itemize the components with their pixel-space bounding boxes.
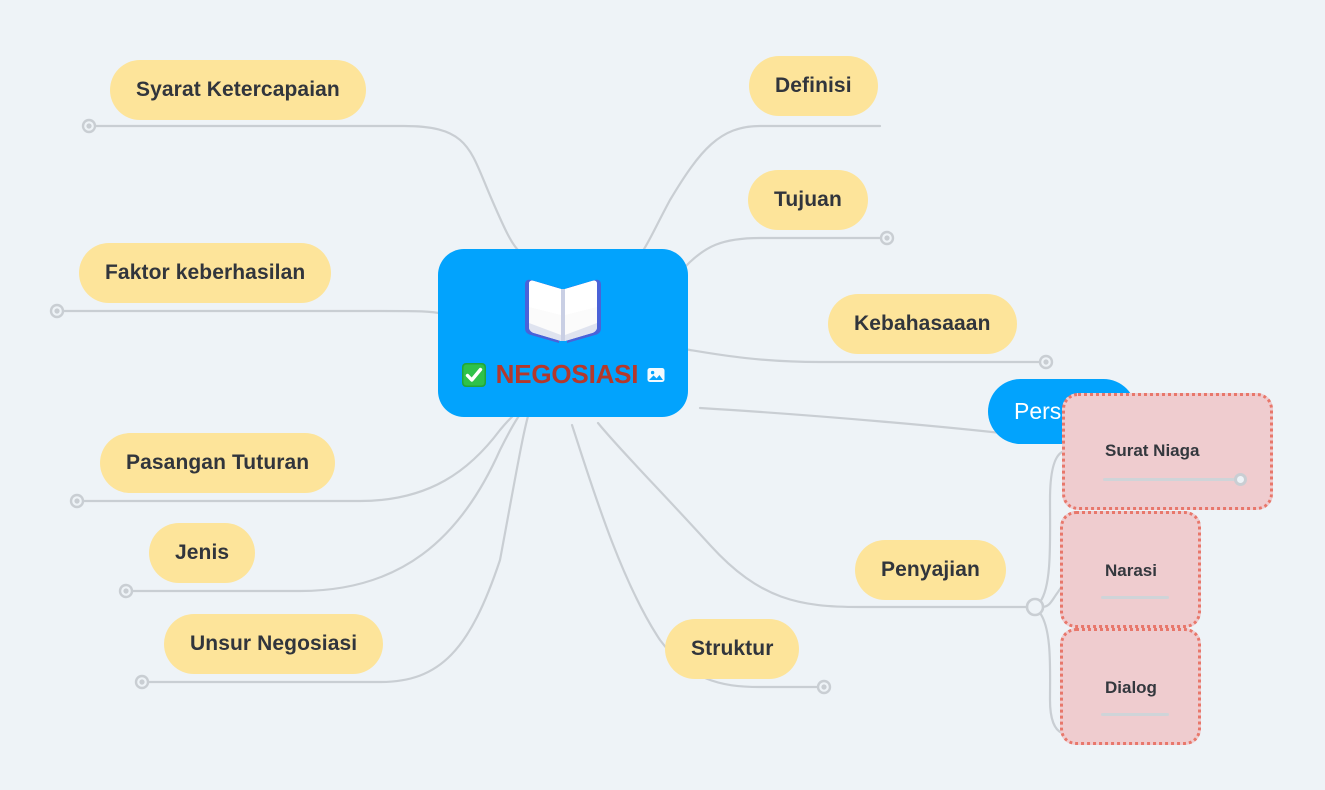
- node-definisi[interactable]: Definisi: [749, 56, 878, 116]
- edge-hub-dialog: [1040, 613, 1062, 733]
- node-unsur-negosiasi[interactable]: Unsur Negosiasi: [164, 614, 383, 674]
- node-struktur[interactable]: Struktur: [665, 619, 799, 679]
- node-expand-dot[interactable]: [1234, 473, 1247, 486]
- node-label: Definisi: [775, 74, 852, 98]
- node-tujuan[interactable]: Tujuan: [748, 170, 868, 230]
- node-label: Faktor keberhasilan: [105, 261, 305, 285]
- node-penyajian[interactable]: Penyajian: [855, 540, 1006, 600]
- hub-penyajian-toggle: [1027, 599, 1043, 615]
- mindmap-canvas: NEGOSIASI Syarat Ketercapaian Faktor keb…: [0, 0, 1325, 790]
- node-surat-niaga[interactable]: Surat Niaga: [1062, 393, 1273, 510]
- node-label: Syarat Ketercapaian: [136, 78, 340, 102]
- open-book-icon: [517, 271, 609, 353]
- node-label: Surat Niaga: [1105, 441, 1199, 461]
- node-faktor-keberhasilan[interactable]: Faktor keberhasilan: [79, 243, 331, 303]
- edge-hub-surat-niaga: [1040, 452, 1062, 602]
- edge-faktor-keberhasilan: [62, 311, 444, 314]
- edge-syarat-ketercapaian: [94, 126, 520, 252]
- image-attachment-icon[interactable]: [647, 367, 665, 383]
- node-rule: [1101, 713, 1169, 716]
- node-label: Tujuan: [774, 188, 842, 212]
- node-label: Kebahasaaan: [854, 312, 991, 336]
- edge-tujuan: [670, 238, 886, 282]
- node-label: Jenis: [175, 541, 229, 565]
- node-rule: [1103, 478, 1242, 481]
- node-label: Unsur Negosiasi: [190, 632, 357, 656]
- node-label: Pasangan Tuturan: [126, 451, 309, 475]
- node-narasi[interactable]: Narasi: [1060, 511, 1201, 628]
- node-label: Penyajian: [881, 558, 980, 582]
- root-title: NEGOSIASI: [496, 359, 639, 390]
- node-jenis[interactable]: Jenis: [149, 523, 255, 583]
- node-label: Dialog: [1105, 678, 1157, 698]
- node-label: Struktur: [691, 637, 773, 661]
- node-label: Narasi: [1105, 561, 1157, 581]
- node-pasangan-tuturan[interactable]: Pasangan Tuturan: [100, 433, 335, 493]
- node-rule: [1101, 596, 1169, 599]
- node-dialog[interactable]: Dialog: [1060, 628, 1201, 745]
- root-node-negosiasi[interactable]: NEGOSIASI: [438, 249, 688, 417]
- white-heavy-check-mark-icon: [461, 362, 487, 388]
- node-syarat-ketercapaian[interactable]: Syarat Ketercapaian: [110, 60, 366, 120]
- node-kebahasaaan[interactable]: Kebahasaaan: [828, 294, 1017, 354]
